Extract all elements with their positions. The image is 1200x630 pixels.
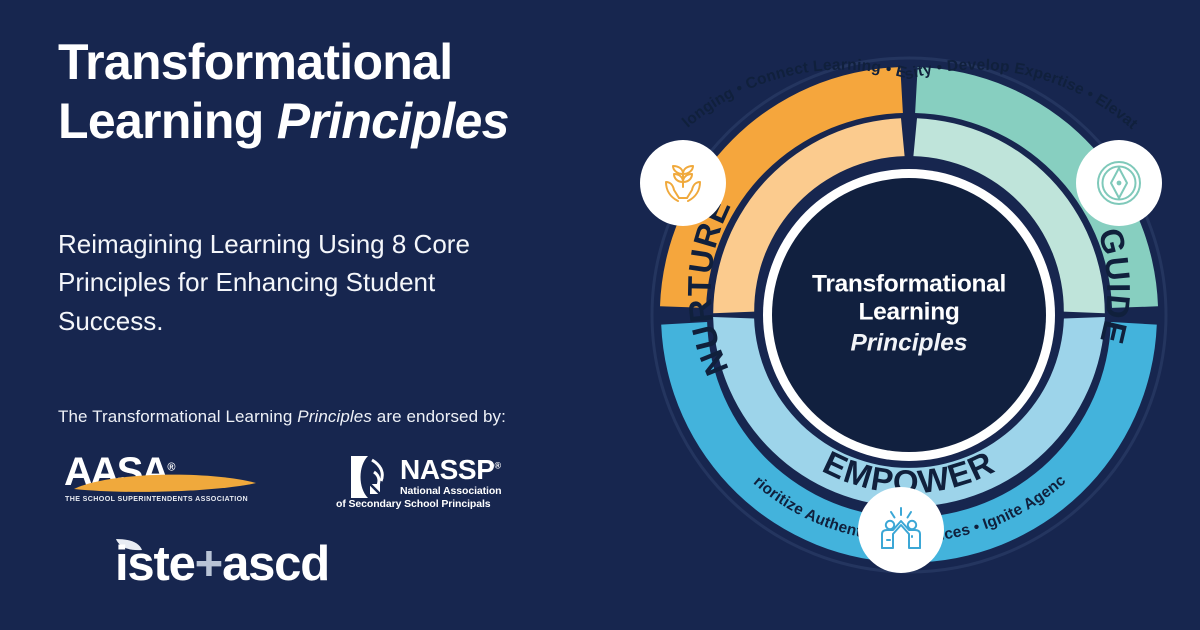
wheel-center-disc bbox=[772, 178, 1046, 452]
endorsement-italic: Principles bbox=[297, 407, 372, 426]
iste-ascd-wordmark: iste+ascd bbox=[115, 540, 329, 589]
nassp-wordmark: NASSP® bbox=[400, 456, 501, 484]
title-line-1: Transformational bbox=[58, 33, 578, 92]
nassp-logo: NASSP® National Association of Secondary… bbox=[290, 448, 500, 516]
ascd-wordmark-text: ascd bbox=[222, 537, 329, 591]
aasa-swoosh-icon bbox=[72, 469, 258, 495]
poster-canvas: Transformational Learning Principles Rei… bbox=[0, 0, 1200, 630]
nassp-wordmark-text: NASSP bbox=[400, 454, 494, 485]
aasa-logo: AASA® THE SCHOOL SUPERINTENDENTS ASSOCIA… bbox=[64, 452, 264, 514]
title-line-2-italic: Principles bbox=[277, 93, 509, 149]
high-five-people-icon bbox=[875, 504, 927, 556]
page-subtitle: Reimagining Learning Using 8 Core Princi… bbox=[58, 225, 538, 340]
iste-ascd-logo: iste+ascd bbox=[60, 540, 360, 602]
text-panel: Transformational Learning Principles Rei… bbox=[58, 0, 618, 630]
iste-wordmark-text: iste bbox=[115, 537, 195, 591]
title-line-2: Learning Principles bbox=[58, 92, 578, 151]
title-line-2-plain: Learning bbox=[58, 93, 277, 149]
nassp-tagline-line-1: National Association bbox=[400, 485, 501, 497]
endorser-logo-row: AASA® THE SCHOOL SUPERINTENDENTS ASSOCIA… bbox=[58, 448, 578, 518]
endorsement-text: The Transformational Learning Principles… bbox=[58, 407, 506, 427]
principles-wheel: Cultivate Belonging • Connect Learning •… bbox=[618, 0, 1200, 630]
guide-badge[interactable] bbox=[1076, 140, 1162, 226]
nurture-badge[interactable] bbox=[640, 140, 726, 226]
nassp-registered-mark: ® bbox=[494, 461, 500, 471]
endorsement-prefix: The Transformational Learning bbox=[58, 407, 297, 426]
compass-icon bbox=[1094, 158, 1144, 208]
page-title: Transformational Learning Principles bbox=[58, 33, 578, 151]
nassp-tagline-line-2: of Secondary School Principals bbox=[336, 498, 491, 510]
aasa-tagline: THE SCHOOL SUPERINTENDENTS ASSOCIATION bbox=[65, 495, 248, 503]
endorsement-suffix: are endorsed by: bbox=[372, 407, 506, 426]
plus-glyph: + bbox=[195, 537, 222, 591]
plant-in-hands-icon bbox=[657, 157, 709, 209]
nassp-mark-icon bbox=[348, 454, 394, 500]
empower-badge[interactable] bbox=[858, 487, 944, 573]
